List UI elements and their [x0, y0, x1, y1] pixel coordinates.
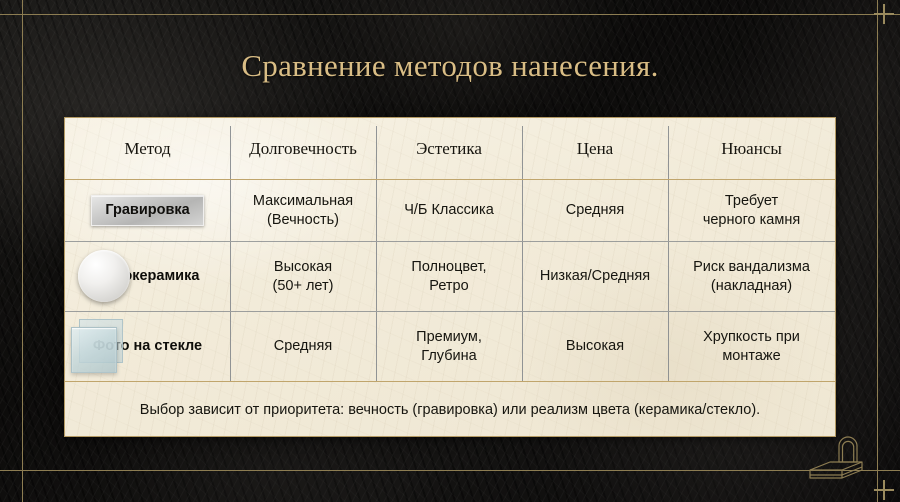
cell-durability-1: Максимальная (Вечность) — [230, 180, 376, 241]
footnote-text: Выбор зависит от приоритета: вечность (г… — [65, 384, 835, 436]
cell-aesthetics-1: Ч/Б Классика — [376, 180, 522, 241]
granite-plate-icon: Гравировка — [91, 195, 203, 227]
cell-method-3: Фото на стекле — [65, 312, 230, 381]
cell-notes-1: Требует черного камня — [668, 180, 835, 241]
cell-durability-3: Средняя — [230, 312, 376, 381]
glass-panel-icon — [71, 319, 125, 373]
table-row: Фото на стекле Средняя Премиум, Глубина … — [65, 312, 835, 381]
comparison-table-panel: Метод Долговечность Эстетика Цена Нюансы… — [64, 117, 836, 437]
cell-aesthetics-3: Премиум, Глубина — [376, 312, 522, 381]
cell-text-line: Высокая — [274, 259, 332, 275]
cell-durability-2: Высокая (50+ лет) — [230, 242, 376, 311]
column-header-aesthetics: Эстетика — [376, 118, 522, 179]
footnote-divider — [65, 381, 835, 382]
cell-text-line: Максимальная — [253, 193, 353, 209]
column-header-durability: Долговечность — [230, 118, 376, 179]
cell-text-line: (накладная) — [711, 278, 792, 294]
slide-canvas: Сравнение методов нанесения. Метод Долго… — [0, 0, 900, 502]
cell-price-2: Низкая/Средняя — [522, 242, 668, 311]
cell-text-line: Риск вандализма — [693, 259, 810, 275]
comparison-table: Метод Долговечность Эстетика Цена Нюансы… — [65, 118, 835, 384]
column-header-notes: Нюансы — [668, 118, 835, 179]
frame-line-bottom — [0, 470, 900, 471]
gravestone-icon — [806, 432, 868, 484]
page-title: Сравнение методов нанесения. — [0, 48, 900, 84]
cell-text-line: Требует — [725, 193, 778, 209]
cell-text-line: Полноцвет, — [411, 259, 486, 275]
table-row: Гравировка Максимальная (Вечность) Ч/Б К… — [65, 180, 835, 241]
cell-notes-3: Хрупкость при монтаже — [668, 312, 835, 381]
plus-mark-icon-bottom-right — [874, 480, 894, 500]
cell-text-line: монтаже — [722, 348, 780, 364]
cell-text-line: Хрупкость при — [703, 329, 800, 345]
cell-text-line: Глубина — [421, 348, 476, 364]
plus-mark-icon-top-right — [874, 4, 894, 24]
column-header-price: Цена — [522, 118, 668, 179]
cell-text-line: Премиум, — [416, 329, 482, 345]
cell-aesthetics-2: Полноцвет, Ретро — [376, 242, 522, 311]
cell-price-1: Средняя — [522, 180, 668, 241]
cell-price-3: Высокая — [522, 312, 668, 381]
cell-notes-2: Риск вандализма (накладная) — [668, 242, 835, 311]
table-header-row: Метод Долговечность Эстетика Цена Нюансы — [65, 118, 835, 179]
frame-line-top — [0, 14, 900, 15]
cell-method-2: Фотокерамика — [65, 242, 230, 311]
column-header-method: Метод — [65, 118, 230, 179]
cell-text-line: Ретро — [429, 278, 468, 294]
ceramic-medallion-icon — [78, 250, 130, 302]
cell-text-line: черного камня — [703, 212, 800, 228]
cell-method-1: Гравировка — [65, 180, 230, 241]
cell-text-line: (50+ лет) — [273, 278, 334, 294]
cell-text-line: (Вечность) — [267, 212, 339, 228]
table-row: Фотокерамика Высокая (50+ лет) Полноцвет… — [65, 242, 835, 311]
